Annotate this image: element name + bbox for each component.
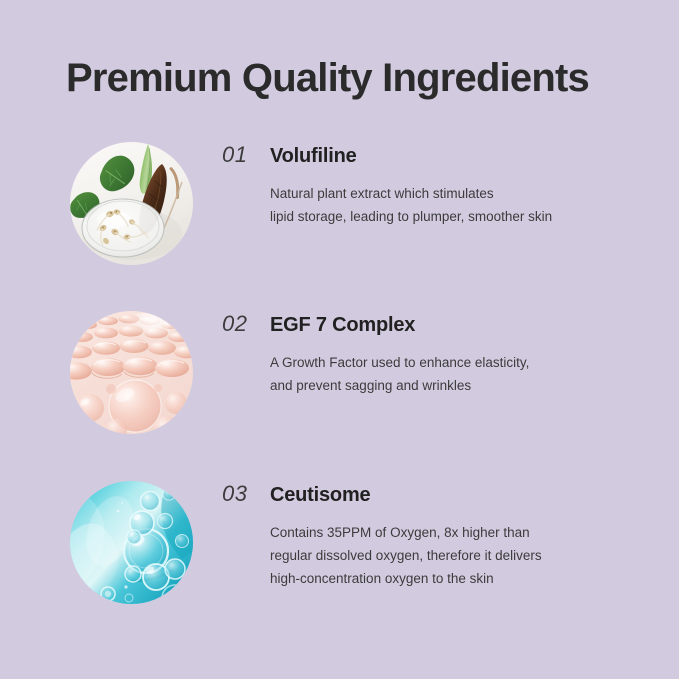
ingredient-number: 03 [222, 481, 270, 507]
description-line: and prevent sagging and wrinkles [270, 374, 529, 397]
ingredient-name: EGF 7 Complex [270, 314, 415, 337]
ingredient-heading: 01 Volufiline [222, 142, 552, 174]
ingredient-name: Volufiline [270, 145, 357, 168]
ingredient-image-egf7complex [70, 311, 193, 434]
description-line: Contains 35PPM of Oxygen, 8x higher than [270, 521, 542, 544]
ingredient-description: Contains 35PPM of Oxygen, 8x higher than… [270, 521, 542, 590]
infographic-page: Premium Quality Ingredients [0, 0, 679, 679]
description-line: Natural plant extract which stimulates [270, 182, 552, 205]
description-line: lipid storage, leading to plumper, smoot… [270, 205, 552, 228]
page-title: Premium Quality Ingredients [66, 56, 589, 100]
description-line: regular dissolved oxygen, therefore it d… [270, 544, 542, 567]
description-line: A Growth Factor used to enhance elastici… [270, 351, 529, 374]
ingredient-description: A Growth Factor used to enhance elastici… [270, 351, 529, 397]
ingredient-image-ceutisome [70, 481, 193, 604]
description-line: high-concentration oxygen to the skin [270, 567, 542, 590]
ingredient-text: 01 Volufiline Natural plant extract whic… [222, 142, 552, 228]
ingredient-number: 02 [222, 311, 270, 337]
ingredient-image-volufiline [70, 142, 193, 265]
ingredient-heading: 02 EGF 7 Complex [222, 311, 529, 343]
ingredient-number: 01 [222, 142, 270, 168]
ingredient-heading: 03 Ceutisome [222, 481, 542, 513]
ingredient-text: 03 Ceutisome Contains 35PPM of Oxygen, 8… [222, 481, 542, 590]
ingredient-description: Natural plant extract which stimulates l… [270, 182, 552, 228]
ingredient-name: Ceutisome [270, 484, 370, 507]
ingredient-text: 02 EGF 7 Complex A Growth Factor used to… [222, 311, 529, 397]
